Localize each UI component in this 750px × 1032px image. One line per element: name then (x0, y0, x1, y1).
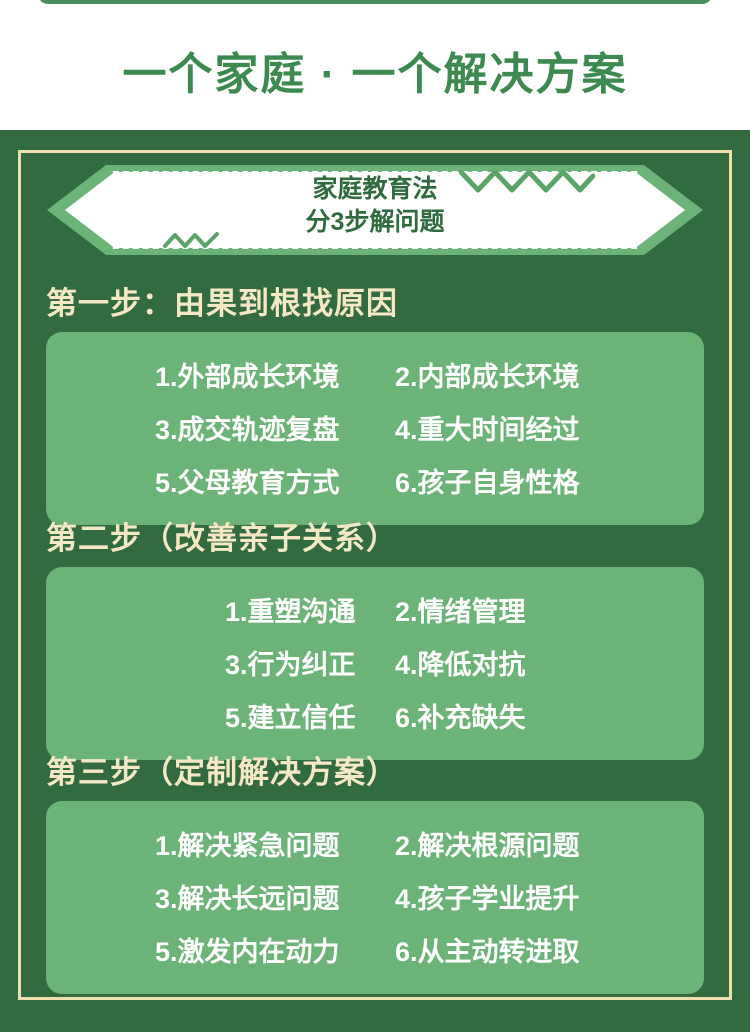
step-section-1: 第一步：由果到根找原因 1.外部成长环境 2.内部成长环境 3.成交轨迹复盘 4… (46, 278, 704, 525)
page-title: 一个家庭 · 一个解决方案 (0, 38, 750, 102)
list-item[interactable]: 4.重大时间经过 (375, 401, 635, 454)
table-row: 1.外部成长环境 2.内部成长环境 (56, 348, 694, 401)
list-item[interactable]: 6.从主动转进取 (375, 923, 635, 976)
table-row: 5.激发内在动力 6.从主动转进取 (56, 923, 694, 976)
ribbon-text-block: 家庭教育法 分3步解问题 (47, 173, 703, 239)
list-item[interactable]: 6.补充缺失 (375, 689, 605, 742)
list-item[interactable]: 3.解决长远问题 (115, 870, 375, 923)
list-item[interactable]: 1.外部成长环境 (115, 348, 375, 401)
list-item[interactable]: 3.行为纠正 (145, 636, 375, 689)
table-row: 1.解决紧急问题 2.解决根源问题 (56, 817, 694, 870)
list-item[interactable]: 2.内部成长环境 (375, 348, 635, 401)
previous-section-stub (38, 0, 712, 4)
step-1-items-box: 1.外部成长环境 2.内部成长环境 3.成交轨迹复盘 4.重大时间经过 5.父母… (46, 332, 704, 525)
list-item[interactable]: 3.成交轨迹复盘 (115, 401, 375, 454)
step-3-items-box: 1.解决紧急问题 2.解决根源问题 3.解决长远问题 4.孩子学业提升 5.激发… (46, 801, 704, 994)
step-3-title: 第三步（定制解决方案） (46, 747, 704, 792)
list-item[interactable]: 1.重塑沟通 (145, 583, 375, 636)
list-item[interactable]: 2.情绪管理 (375, 583, 605, 636)
ribbon-banner: 家庭教育法 分3步解问题 (47, 165, 703, 255)
table-row: 5.建立信任 6.补充缺失 (56, 689, 694, 742)
list-item[interactable]: 2.解决根源问题 (375, 817, 635, 870)
step-2-items-box: 1.重塑沟通 2.情绪管理 3.行为纠正 4.降低对抗 5.建立信任 6.补充缺… (46, 567, 704, 760)
list-item[interactable]: 6.孩子自身性格 (375, 454, 635, 507)
table-row: 1.重塑沟通 2.情绪管理 (56, 583, 694, 636)
list-item[interactable]: 1.解决紧急问题 (115, 817, 375, 870)
main-card: 家庭教育法 分3步解问题 第一步：由果到根找原因 1.外部成长环境 2.内部成长… (0, 130, 750, 1032)
table-row: 3.解决长远问题 4.孩子学业提升 (56, 870, 694, 923)
ribbon-line-1: 家庭教育法 (47, 173, 703, 206)
ribbon-line-2: 分3步解问题 (47, 206, 703, 239)
list-item[interactable]: 4.降低对抗 (375, 636, 605, 689)
poster-root: 一个家庭 · 一个解决方案 家庭教育法 分3步解问题 (0, 0, 750, 1032)
list-item[interactable]: 5.建立信任 (145, 689, 375, 742)
table-row: 5.父母教育方式 6.孩子自身性格 (56, 454, 694, 507)
step-2-title: 第二步（改善亲子关系） (46, 513, 704, 558)
table-row: 3.成交轨迹复盘 4.重大时间经过 (56, 401, 694, 454)
list-item[interactable]: 5.激发内在动力 (115, 923, 375, 976)
step-section-3: 第三步（定制解决方案） 1.解决紧急问题 2.解决根源问题 3.解决长远问题 4… (46, 747, 704, 994)
step-section-2: 第二步（改善亲子关系） 1.重塑沟通 2.情绪管理 3.行为纠正 4.降低对抗 … (46, 513, 704, 760)
list-item[interactable]: 5.父母教育方式 (115, 454, 375, 507)
list-item[interactable]: 4.孩子学业提升 (375, 870, 635, 923)
step-1-title: 第一步：由果到根找原因 (46, 278, 704, 323)
table-row: 3.行为纠正 4.降低对抗 (56, 636, 694, 689)
